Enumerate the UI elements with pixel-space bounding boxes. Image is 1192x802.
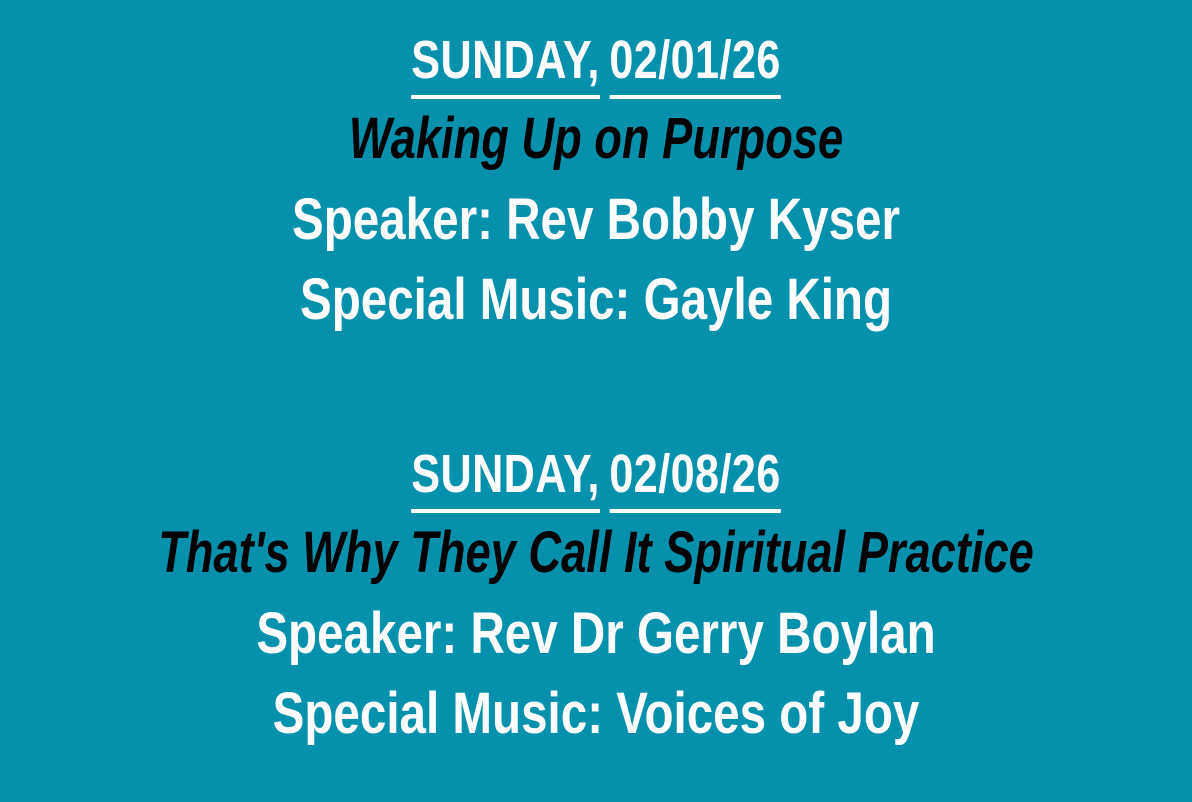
service-date-value: 02/01/26 <box>609 30 780 99</box>
service-date-day: SUNDAY, <box>411 444 599 513</box>
speaker-line: Speaker: Rev Dr Gerry Boylan <box>107 594 1084 674</box>
service-announcement-2: SUNDAY,02/08/26 That's Why They Call It … <box>0 436 1192 754</box>
sermon-title: That's Why They Call It Spiritual Practi… <box>131 512 1061 594</box>
service-date-heading: SUNDAY,02/01/26 <box>119 22 1073 98</box>
announcement-slide: SUNDAY,02/01/26 Waking Up on Purpose Spe… <box>0 0 1192 802</box>
special-music-line: Special Music: Gayle King <box>107 260 1084 340</box>
service-date-heading: SUNDAY,02/08/26 <box>119 436 1073 512</box>
sermon-title: Waking Up on Purpose <box>131 98 1061 180</box>
speaker-line: Speaker: Rev Bobby Kyser <box>107 180 1084 260</box>
special-music-line: Special Music: Voices of Joy <box>107 674 1084 754</box>
service-announcement-1: SUNDAY,02/01/26 Waking Up on Purpose Spe… <box>0 22 1192 340</box>
service-date-value: 02/08/26 <box>609 444 780 513</box>
service-date-day: SUNDAY, <box>411 30 599 99</box>
